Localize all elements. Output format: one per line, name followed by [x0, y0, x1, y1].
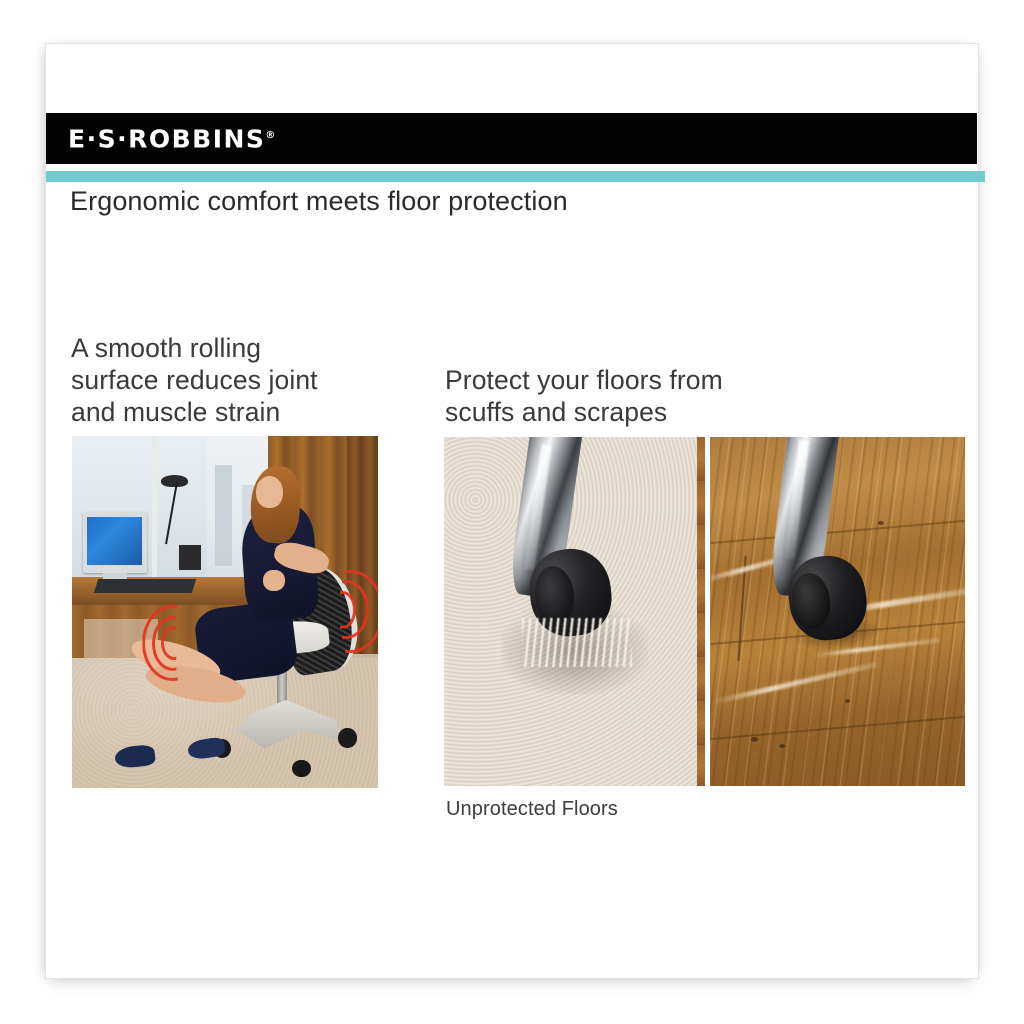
woman-head	[256, 476, 284, 508]
registered-trademark-icon: ®	[265, 130, 275, 141]
chair-caster-icon	[338, 728, 356, 747]
adjacent-wood-edge	[697, 437, 705, 786]
wood-knot	[845, 699, 850, 703]
es-robbins-logo: E·S·ROBBINS®	[68, 126, 275, 151]
left-column-heading: A smooth rolling surface reduces joint a…	[71, 332, 318, 429]
page-headline: Ergonomic comfort meets floor protection	[70, 186, 568, 217]
brand-logo-bar: E·S·ROBBINS®	[46, 113, 977, 164]
wood-knot	[751, 737, 758, 742]
teal-accent-bar	[46, 171, 985, 182]
chair-caster-icon	[292, 760, 310, 778]
caster-on-carpet-photo	[444, 437, 705, 786]
right-column-heading: Protect your floors from scuffs and scra…	[445, 364, 723, 428]
wood-knot	[779, 744, 785, 748]
woman-hand-on-back	[263, 570, 284, 591]
ergonomic-office-photo	[72, 436, 378, 788]
carpet-fibers-displaced	[522, 618, 632, 667]
keyboard-icon	[94, 579, 196, 593]
computer-monitor-icon	[83, 512, 147, 574]
wood-knot	[878, 521, 884, 525]
product-infographic-page: E·S·ROBBINS® Ergonomic comfort meets flo…	[0, 0, 1024, 1024]
unprotected-floors-caption: Unprotected Floors	[446, 798, 618, 821]
desk-lamp-base	[179, 545, 200, 570]
caster-on-hardwood-photo	[710, 437, 965, 786]
logo-wordmark-text: E·S·ROBBINS	[68, 124, 265, 153]
monitor-screen	[87, 517, 142, 565]
